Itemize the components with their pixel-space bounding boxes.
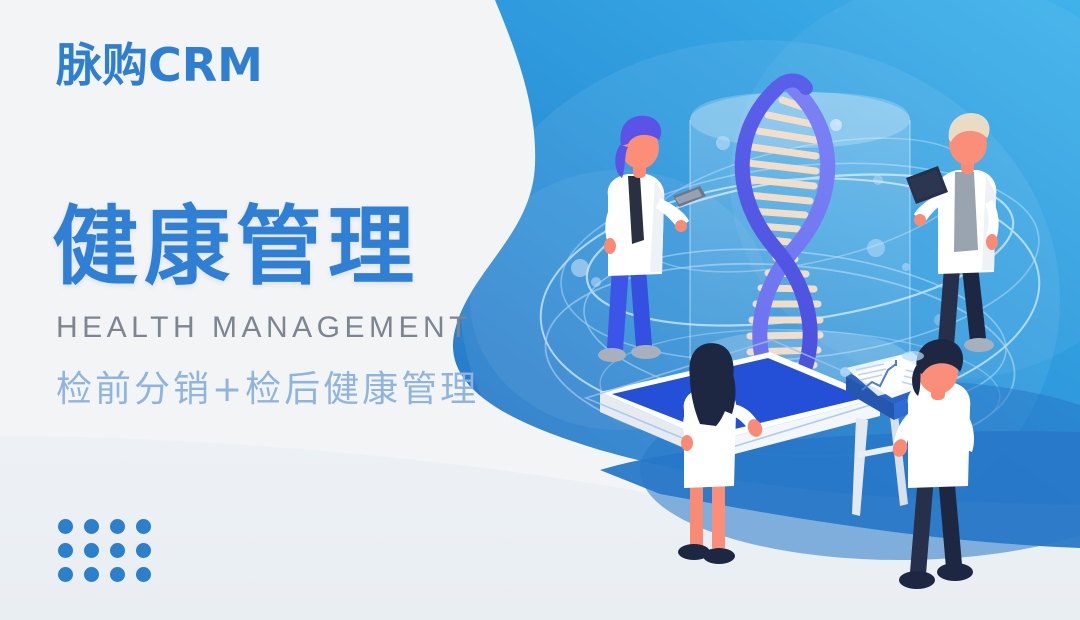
dot-grid-decoration <box>58 519 162 591</box>
grid-dot <box>110 519 125 534</box>
grid-dot <box>136 543 151 558</box>
health-management-banner: 脉购CRM 健康管理 HEALTH MANAGEMENT 检前分销+检后健康管理 <box>0 0 1080 620</box>
grid-dot <box>110 543 125 558</box>
grid-dot <box>84 519 99 534</box>
grid-dot <box>58 567 73 582</box>
page-tagline: 检前分销+检后健康管理 <box>56 372 479 408</box>
grid-dot <box>110 567 125 582</box>
grid-dot <box>84 567 99 582</box>
grid-dot <box>58 519 73 534</box>
hero-text-column: 脉购CRM 健康管理 HEALTH MANAGEMENT 检前分销+检后健康管理 <box>0 0 540 620</box>
page-title: 健康管理 <box>52 202 420 292</box>
grid-dot <box>58 543 73 558</box>
grid-dot <box>136 567 151 582</box>
grid-dot <box>136 519 151 534</box>
page-subtitle-english: HEALTH MANAGEMENT <box>56 313 472 343</box>
grid-dot <box>84 543 99 558</box>
brand-logo[interactable]: 脉购CRM <box>56 42 263 88</box>
